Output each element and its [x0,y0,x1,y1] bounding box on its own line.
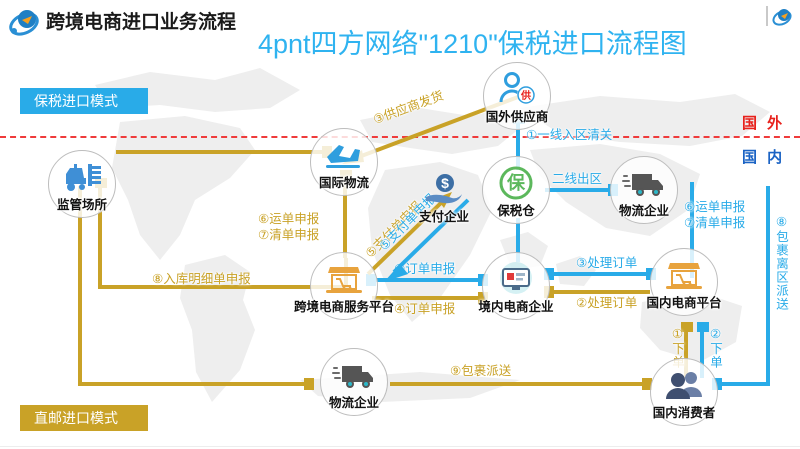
node-logistics-enterprise[interactable]: 物流企业 [610,156,680,226]
node-label: 国内电商平台 [624,292,744,311]
brand-swoosh-watermark [772,6,794,28]
node-label: 监管场所 [22,194,142,213]
page-title: 跨境电商进口业务流程 [46,7,236,34]
node-cross-border-platform[interactable]: 跨境电商服务平台 [310,252,380,322]
flowchart-canvas: 跨境电商进口业务流程 4pnt四方网络"1210"保税进口流程图 保税进口模式 … [0,0,800,449]
node-label: 跨境电商服务平台 [284,296,404,315]
line-second-line-exit [545,188,611,192]
banner-bonded-label: 保税进口模式 [20,88,128,114]
node-label: 物流企业 [584,200,704,219]
svg-text:$: $ [441,175,449,191]
line-parcel-zone-delivery-horizontal [722,382,770,386]
banner-direct-import-mode: 直邮进口模式 [20,405,148,431]
node-logistics-enterprise-direct[interactable]: 物流企业 [320,348,390,418]
banner-bonded-tip [128,88,148,114]
banner-direct-tip [128,405,148,431]
node-label: 国际物流 [284,172,404,191]
line-supervision-to-bottom-logistics [78,382,308,386]
node-payment-enterprise[interactable]: $ 支付企业 [410,162,480,232]
node-domestic-ec-platform[interactable]: 国内电商平台 [650,248,720,318]
node-label: 保税仓 [456,200,576,219]
line-parcel-zone-delivery-vertical [766,186,770,384]
node-label: 国内消费者 [624,402,744,421]
arrow-to-bottom-logistics [304,378,314,390]
node-international-logistics[interactable]: 国际物流 [310,128,380,198]
node-supervision-site[interactable]: 监管场所 [48,150,118,220]
line-parcel-delivery [390,382,646,386]
corner-divider [766,6,768,26]
line-supervision-to-intl-logistics [116,150,324,154]
svg-text:保: 保 [506,172,526,193]
flow-label-8-parcel-zone-delivery: ⑧包裹离区派送 [772,214,791,311]
flow-label-second-line-exit: 二线出区 [552,168,602,187]
footer-divider [0,446,800,447]
line-3-process-order [550,272,650,276]
brand-swoosh-logo [8,6,42,36]
flow-label-3-process-order: ③处理订单 [576,252,637,271]
flow-label-8-inbound-detail-declaration: ⑧入库明细单申报 [152,268,251,287]
node-label: 境内电商企业 [456,296,576,315]
node-bonded-warehouse[interactable]: 保 保税仓 [482,156,552,226]
node-label: 国外供应商 [457,106,577,125]
node-oversea-supplier[interactable]: 供 国外供应商 [483,62,553,132]
node-domestic-consumer[interactable]: 国内消费者 [650,358,720,428]
flow-label-7-manifest-declaration: ⑦清单申报 [258,224,319,243]
banner-direct-label: 直邮进口模式 [20,405,128,431]
main-title: 4pnt四方网络"1210"保税进口流程图 [258,22,687,61]
flow-label-9-parcel-delivery: ⑨包裹派送 [450,360,511,379]
node-domestic-ec-enterprise[interactable]: 境内电商企业 [482,252,552,322]
label-outside-country: 国 外 [742,112,785,133]
label-inside-country: 国 内 [742,146,785,167]
banner-bonded-import-mode: 保税进口模式 [20,88,148,114]
svg-text:供: 供 [520,89,531,102]
node-label: 物流企业 [294,392,414,411]
